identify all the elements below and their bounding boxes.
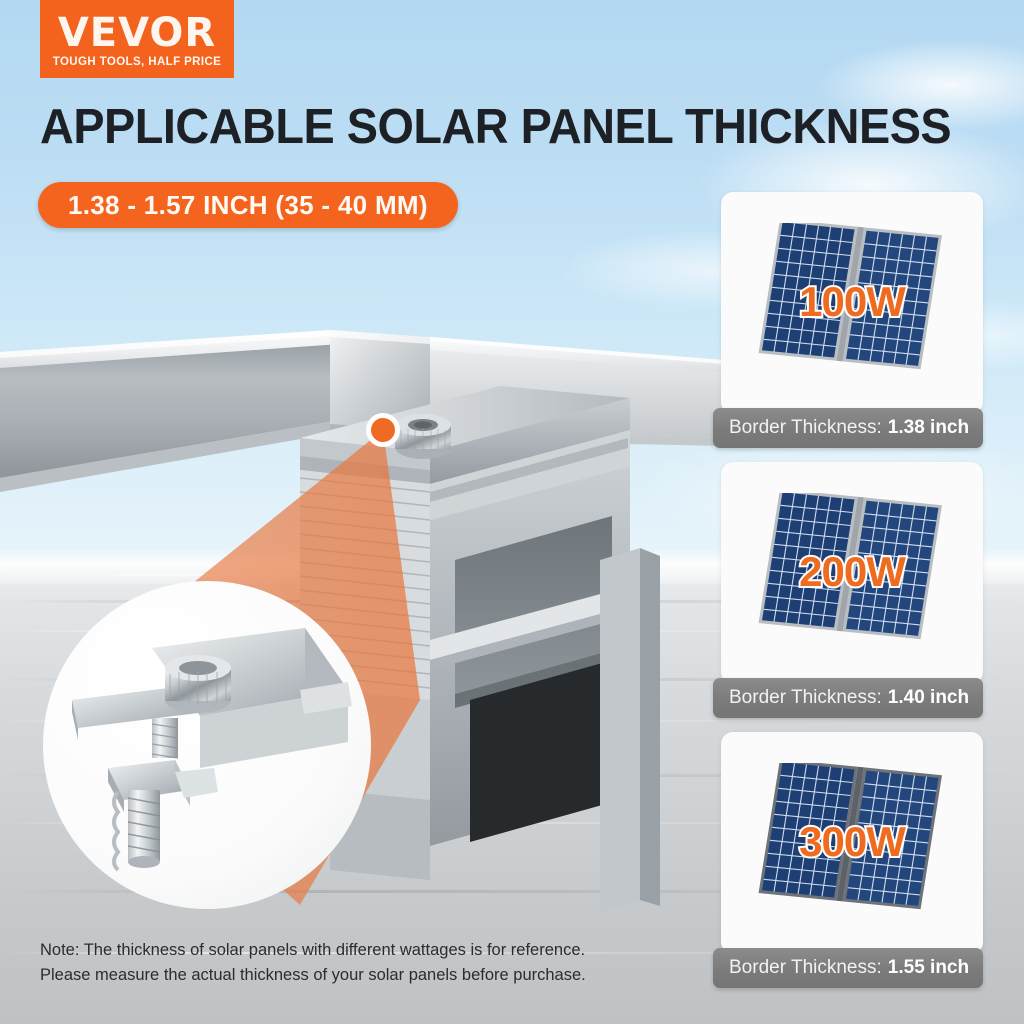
- border-thickness-caption: Border Thickness: 1.38 inch: [713, 408, 983, 448]
- spec-card: 100W Border Thickness: 1.38 inch: [713, 192, 983, 448]
- panel-photo: 200W: [721, 462, 983, 684]
- thickness-range-badge: 1.38 - 1.57 INCH (35 - 40 MM): [38, 182, 458, 228]
- poster-canvas: VEVOR TOUGH TOOLS, HALF PRICE APPLICABLE…: [0, 0, 1024, 1024]
- vevor-logo: VEVOR TOUGH TOOLS, HALF PRICE: [40, 0, 234, 78]
- caption-label: Border Thickness:: [729, 957, 882, 979]
- border-thickness-caption: Border Thickness: 1.55 inch: [713, 948, 983, 988]
- caption-label: Border Thickness:: [729, 687, 882, 709]
- caption-value: 1.40 inch: [888, 687, 969, 709]
- brand-name: VEVOR: [58, 13, 216, 53]
- spec-card: 200W Border Thickness: 1.40 inch: [713, 462, 983, 718]
- panel-photo: 300W: [721, 732, 983, 954]
- caption-value: 1.38 inch: [888, 417, 969, 439]
- solar-panel-graphic: 100W: [752, 223, 952, 383]
- brand-tagline: TOUGH TOOLS, HALF PRICE: [53, 56, 222, 68]
- wattage-label: 200W: [799, 548, 905, 596]
- border-thickness-caption: Border Thickness: 1.40 inch: [713, 678, 983, 718]
- disclaimer-note: Note: The thickness of solar panels with…: [40, 938, 700, 988]
- page-title: APPLICABLE SOLAR PANEL THICKNESS: [40, 100, 900, 154]
- caption-value: 1.55 inch: [888, 957, 969, 979]
- spec-card: 300W Border Thickness: 1.55 inch: [713, 732, 983, 988]
- thickness-range-text: 1.38 - 1.57 INCH (35 - 40 MM): [68, 190, 428, 221]
- note-line-1: Note: The thickness of solar panels with…: [40, 938, 700, 963]
- caption-label: Border Thickness:: [729, 417, 882, 439]
- panel-photo: 100W: [721, 192, 983, 414]
- note-line-2: Please measure the actual thickness of y…: [40, 963, 700, 988]
- wattage-label: 100W: [799, 278, 905, 326]
- wattage-label: 300W: [799, 818, 905, 866]
- solar-panel-graphic: 200W: [752, 493, 952, 653]
- solar-panel-graphic: 300W: [752, 763, 952, 923]
